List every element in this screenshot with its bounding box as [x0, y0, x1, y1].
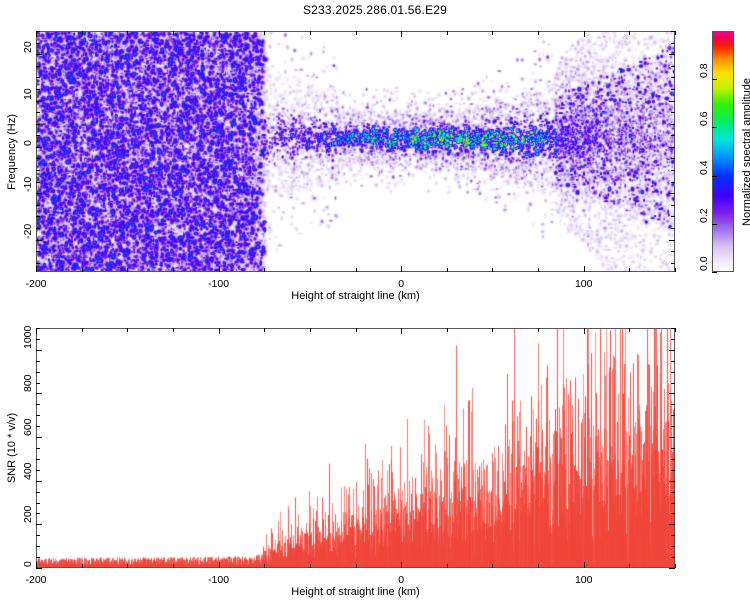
- axis-tick: [671, 228, 675, 229]
- axis-tick: [671, 158, 675, 159]
- snr-y-axis-title: SNR (10 * v/v): [6, 413, 18, 483]
- axis-tick: [36, 372, 40, 373]
- spectrogram-x-tick-label: 100: [575, 278, 593, 290]
- axis-tick: [492, 268, 493, 272]
- axis-tick: [712, 272, 717, 273]
- axis-tick: [675, 564, 676, 568]
- axis-tick: [310, 268, 311, 272]
- axis-tick: [219, 266, 220, 272]
- axis-tick: [671, 263, 675, 264]
- axis-tick: [671, 415, 675, 416]
- axis-tick: [82, 564, 83, 568]
- axis-tick: [584, 328, 585, 334]
- axis-tick: [671, 470, 675, 471]
- axis-tick: [356, 31, 357, 35]
- axis-tick: [310, 328, 311, 332]
- axis-tick: [669, 193, 675, 194]
- axis-tick: [219, 328, 220, 334]
- axis-tick: [36, 415, 40, 416]
- axis-tick: [671, 216, 675, 217]
- snr-x-tick-label: -100: [208, 574, 229, 586]
- axis-tick: [36, 251, 40, 252]
- axis-tick: [219, 562, 220, 568]
- axis-tick: [36, 361, 40, 362]
- axis-tick: [671, 43, 675, 44]
- axis-tick: [310, 31, 311, 35]
- axis-tick: [671, 535, 675, 536]
- snr-x-axis-title: Height of straight line (km): [291, 586, 419, 598]
- axis-tick: [447, 268, 448, 272]
- figure-root: S233.2025.286.01.56.E29 -200-1000100-20-…: [0, 0, 750, 600]
- axis-tick: [671, 251, 675, 252]
- axis-tick: [36, 101, 42, 102]
- axis-tick: [584, 31, 585, 37]
- axis-tick: [356, 328, 357, 332]
- axis-tick: [36, 557, 40, 558]
- axis-tick: [629, 564, 630, 568]
- axis-tick: [127, 31, 128, 35]
- axis-tick: [675, 31, 676, 35]
- axis-tick: [671, 448, 675, 449]
- axis-tick: [675, 268, 676, 272]
- axis-tick: [36, 43, 40, 44]
- axis-tick: [36, 328, 40, 329]
- axis-tick: [36, 240, 42, 241]
- axis-tick: [36, 492, 40, 493]
- axis-tick: [173, 564, 174, 568]
- axis-tick: [675, 328, 676, 332]
- axis-tick: [447, 328, 448, 332]
- axis-tick: [712, 224, 717, 225]
- axis-tick: [36, 393, 42, 394]
- axis-tick: [671, 426, 675, 427]
- axis-tick: [492, 31, 493, 35]
- axis-tick: [671, 170, 675, 171]
- axis-tick: [36, 263, 40, 264]
- axis-tick: [712, 127, 717, 128]
- axis-tick: [36, 568, 42, 569]
- axis-tick: [671, 205, 675, 206]
- axis-tick: [173, 31, 174, 35]
- snr-canvas: [37, 329, 674, 567]
- axis-tick: [671, 372, 675, 373]
- snr-x-tick-label: 100: [575, 574, 593, 586]
- axis-tick: [36, 158, 40, 159]
- axis-tick: [629, 268, 630, 272]
- axis-tick: [36, 339, 40, 340]
- axis-tick: [36, 524, 42, 525]
- axis-tick: [671, 89, 675, 90]
- axis-tick: [36, 535, 40, 536]
- axis-tick: [356, 268, 357, 272]
- spectrogram-y-axis-title: Frequency (Hz): [6, 114, 18, 190]
- axis-tick: [538, 564, 539, 568]
- axis-tick: [356, 564, 357, 568]
- axis-tick: [671, 182, 675, 183]
- axis-tick: [36, 135, 40, 136]
- axis-tick: [669, 240, 675, 241]
- axis-tick: [538, 268, 539, 272]
- axis-tick: [36, 124, 40, 125]
- colorbar: [712, 31, 734, 272]
- axis-tick: [82, 31, 83, 35]
- axis-tick: [36, 216, 40, 217]
- axis-tick: [538, 328, 539, 332]
- spectrogram-x-tick-label: -100: [208, 278, 229, 290]
- page-title: S233.2025.286.01.56.E29: [0, 3, 750, 17]
- axis-tick: [669, 54, 675, 55]
- axis-tick: [36, 266, 37, 272]
- axis-tick: [671, 404, 675, 405]
- axis-tick: [671, 328, 675, 329]
- axis-tick: [36, 503, 40, 504]
- snr-x-tick-label: 0: [398, 574, 404, 586]
- axis-tick: [36, 66, 40, 67]
- axis-tick: [492, 328, 493, 332]
- axis-tick: [671, 124, 675, 125]
- axis-tick: [127, 268, 128, 272]
- axis-tick: [127, 564, 128, 568]
- axis-tick: [671, 135, 675, 136]
- snr-x-tick-label: -200: [25, 574, 46, 586]
- axis-tick: [712, 79, 717, 80]
- axis-tick: [669, 437, 675, 438]
- colorbar-gradient: [713, 32, 733, 271]
- spectrogram-canvas: [37, 32, 674, 271]
- axis-tick: [671, 383, 675, 384]
- axis-tick: [36, 350, 42, 351]
- axis-tick: [629, 328, 630, 332]
- axis-tick: [401, 31, 402, 37]
- axis-tick: [36, 89, 40, 90]
- spectrogram-x-tick-label: 0: [398, 278, 404, 290]
- axis-tick: [671, 77, 675, 78]
- axis-tick: [127, 328, 128, 332]
- axis-tick: [669, 524, 675, 525]
- axis-tick: [401, 266, 402, 272]
- axis-tick: [36, 426, 40, 427]
- axis-tick: [584, 266, 585, 272]
- axis-tick: [669, 481, 675, 482]
- axis-tick: [669, 101, 675, 102]
- axis-tick: [669, 147, 675, 148]
- axis-tick: [669, 393, 675, 394]
- axis-tick: [36, 513, 40, 514]
- axis-tick: [173, 328, 174, 332]
- axis-tick: [538, 31, 539, 35]
- axis-tick: [36, 383, 40, 384]
- axis-tick: [36, 182, 40, 183]
- axis-tick: [629, 31, 630, 35]
- axis-tick: [671, 459, 675, 460]
- axis-tick: [669, 568, 675, 569]
- axis-tick: [36, 112, 40, 113]
- axis-tick: [173, 268, 174, 272]
- axis-tick: [671, 492, 675, 493]
- axis-tick: [219, 31, 220, 37]
- axis-tick: [669, 350, 675, 351]
- axis-tick: [264, 268, 265, 272]
- axis-tick: [671, 339, 675, 340]
- axis-tick: [36, 54, 42, 55]
- axis-tick: [671, 112, 675, 113]
- snr-panel: [36, 328, 675, 568]
- axis-tick: [36, 193, 42, 194]
- axis-tick: [264, 328, 265, 332]
- axis-tick: [82, 328, 83, 332]
- axis-tick: [36, 228, 40, 229]
- axis-tick: [310, 564, 311, 568]
- axis-tick: [671, 31, 675, 32]
- axis-tick: [401, 328, 402, 334]
- axis-tick: [36, 77, 40, 78]
- axis-tick: [671, 361, 675, 362]
- axis-tick: [447, 31, 448, 35]
- axis-tick: [36, 147, 42, 148]
- axis-tick: [447, 564, 448, 568]
- axis-tick: [264, 564, 265, 568]
- axis-tick: [492, 564, 493, 568]
- colorbar-title: Normalized spectral amplitude: [741, 78, 750, 226]
- axis-tick: [36, 205, 40, 206]
- spectrogram-x-axis-title: Height of straight line (km): [291, 290, 419, 302]
- axis-tick: [36, 170, 40, 171]
- axis-tick: [36, 448, 40, 449]
- axis-tick: [36, 437, 42, 438]
- axis-tick: [671, 503, 675, 504]
- axis-tick: [671, 546, 675, 547]
- axis-tick: [584, 562, 585, 568]
- axis-tick: [36, 459, 40, 460]
- spectrogram-panel: [36, 31, 675, 272]
- axis-tick: [401, 562, 402, 568]
- spectrogram-x-tick-label: -200: [25, 278, 46, 290]
- axis-tick: [671, 557, 675, 558]
- axis-tick: [36, 470, 40, 471]
- axis-tick: [36, 404, 40, 405]
- axis-tick: [671, 513, 675, 514]
- axis-tick: [36, 31, 40, 32]
- axis-tick: [671, 66, 675, 67]
- axis-tick: [36, 546, 40, 547]
- axis-tick: [264, 31, 265, 35]
- axis-tick: [712, 176, 717, 177]
- axis-tick: [36, 481, 42, 482]
- axis-tick: [82, 268, 83, 272]
